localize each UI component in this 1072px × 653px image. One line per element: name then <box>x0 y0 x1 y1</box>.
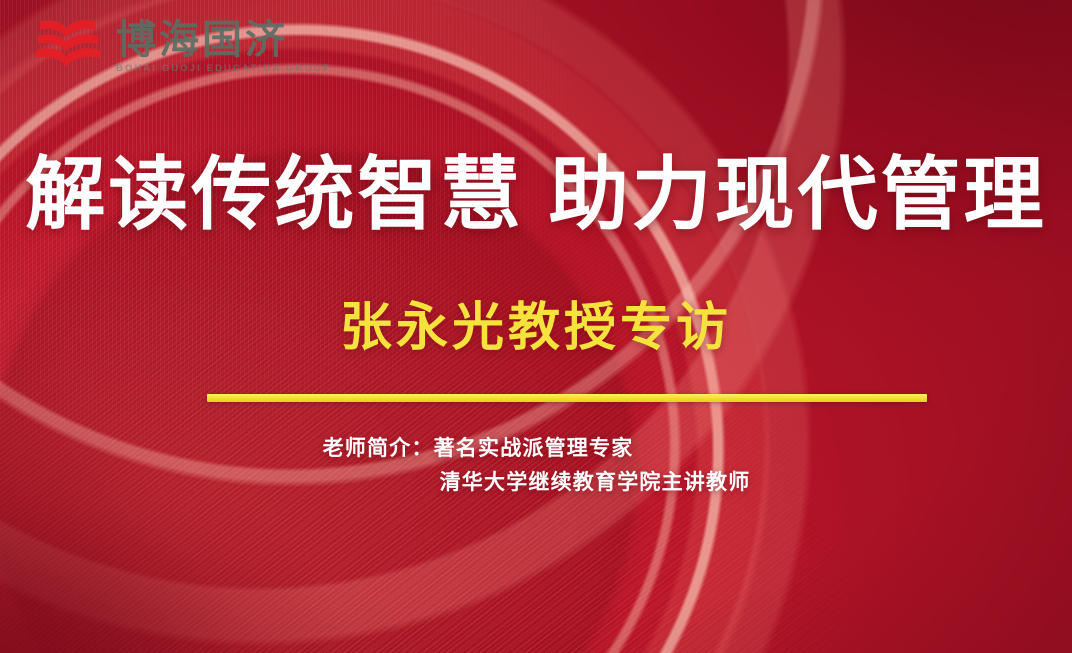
page-title: 解读传统智慧 助力现代管理 <box>0 152 1072 238</box>
speaker-bio: 老师简介：著名实战派管理专家 清华大学继续教育学院主讲教师 <box>0 432 1072 500</box>
book-pages-logo-icon <box>30 16 102 74</box>
poster-subtitle: 张永光教授专访 <box>0 300 1072 357</box>
speaker-bio-line-2: 清华大学继续教育学院主讲教师 <box>0 466 1072 500</box>
brand-name-cn: 博海国济 <box>116 19 331 61</box>
speaker-bio-line-1: 老师简介：著名实战派管理专家 <box>0 432 1072 466</box>
promotional-poster: 博海国济 BOHAI GUOJI EDUCATION GROUP 解读传统智慧 … <box>0 0 1072 653</box>
yellow-divider-rule <box>207 394 927 402</box>
brand-logo-text: 博海国济 BOHAI GUOJI EDUCATION GROUP <box>116 17 331 74</box>
brand-name-en: BOHAI GUOJI EDUCATION GROUP <box>116 63 331 74</box>
brand-logo[interactable]: 博海国济 BOHAI GUOJI EDUCATION GROUP <box>30 16 331 74</box>
poster-content: 解读传统智慧 助力现代管理 张永光教授专访 老师简介：著名实战派管理专家 清华大… <box>0 0 1072 653</box>
